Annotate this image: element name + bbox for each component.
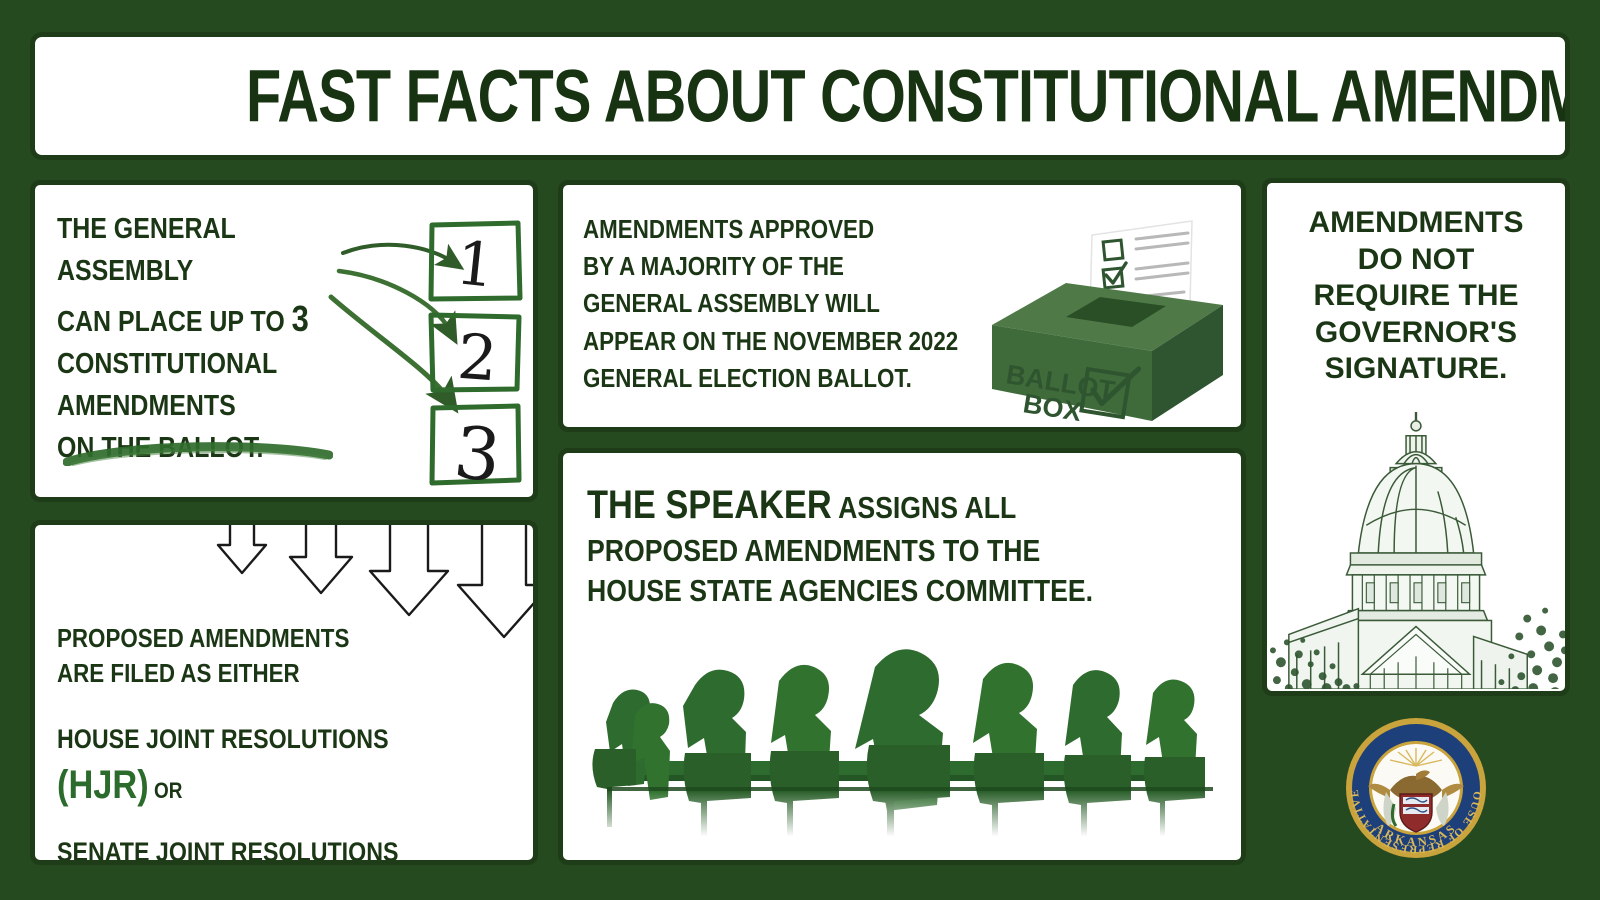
assembly-line-3: CONSTITUTIONAL [57, 344, 357, 386]
infographic-root: FAST FACTS ABOUT CONSTITUTIONAL AMENDMEN… [0, 0, 1600, 900]
governor-line-3: REQUIRE THE [1277, 278, 1555, 315]
filed-text-block: PROPOSED AMENDMENTS ARE FILED AS EITHER … [57, 621, 527, 865]
speaker-rest: ASSIGNS ALL [832, 490, 1017, 525]
panel-speaker-assigns: THE SPEAKER ASSIGNS ALL PROPOSED AMENDME… [558, 448, 1246, 865]
approved-text-block: AMENDMENTS APPROVED BY A MAJORITY OF THE… [583, 211, 1033, 397]
speaker-line-2: PROPOSED AMENDMENTS TO THE [587, 531, 1217, 571]
filed-line-3: HOUSE JOINT RESOLUTIONS (HJR) OR [57, 721, 527, 811]
filed-line-1: PROPOSED AMENDMENTS [57, 621, 527, 656]
box-number-1: 1 [453, 228, 498, 302]
header-panel: FAST FACTS ABOUT CONSTITUTIONAL AMENDMEN… [30, 32, 1570, 160]
speaker-text-block: THE SPEAKER ASSIGNS ALL PROPOSED AMENDME… [587, 479, 1217, 612]
filed-line-2: ARE FILED AS EITHER [57, 656, 527, 691]
speaker-line-1: THE SPEAKER ASSIGNS ALL [587, 479, 1217, 531]
numbered-box-1: 1 [427, 219, 523, 303]
page-title-text: FAST FACTS ABOUT CONSTITUTIONAL AMENDMEN… [246, 54, 1570, 139]
box-number-2: 2 [455, 320, 499, 396]
assembly-number-three: 3 [292, 298, 309, 339]
panel-approved-by-majority: AMENDMENTS APPROVED BY A MAJORITY OF THE… [558, 180, 1246, 432]
governor-line-2: DO NOT [1277, 242, 1555, 279]
filed-hjr-text: HOUSE JOINT RESOLUTIONS [57, 724, 389, 754]
box-number-3: 3 [450, 410, 504, 498]
filed-hjr-abbr: (HJR) [57, 763, 149, 807]
assembly-line-2-text: CAN PLACE UP TO [57, 306, 292, 338]
speaker-line-3: HOUSE STATE AGENCIES COMMITTEE. [587, 571, 1217, 611]
approved-line-4: APPEAR ON THE NOVEMBER 2022 [583, 323, 1033, 360]
governor-line-4: GOVERNOR'S [1277, 315, 1555, 352]
numbered-box-2: 2 [427, 311, 523, 395]
numbered-boxes-group: 1 2 3 [365, 219, 525, 489]
assembly-line-4: AMENDMENTS [57, 386, 357, 428]
numbered-box-3: 3 [427, 403, 523, 487]
assembly-text-block: THE GENERAL ASSEMBLY CAN PLACE UP TO 3 C… [57, 209, 357, 470]
speaker-emphasis: THE SPEAKER [587, 483, 832, 527]
governor-line-1: AMENDMENTS [1277, 205, 1555, 242]
filed-line-4: SENATE JOINT RESOLUTIONS (SJR). [57, 834, 527, 865]
filed-sjr-text: SENATE JOINT RESOLUTIONS [57, 837, 398, 865]
brush-underline-icon [63, 440, 333, 466]
page-title: FAST FACTS ABOUT CONSTITUTIONAL AMENDMEN… [35, 54, 1565, 139]
governor-text-block: AMENDMENTS DO NOT REQUIRE THE GOVERNOR'S… [1277, 205, 1555, 388]
panel-general-assembly: THE GENERAL ASSEMBLY CAN PLACE UP TO 3 C… [30, 180, 538, 502]
committee-meeting-silhouette-icon [583, 641, 1233, 856]
ballot-box-icon: BALLOT BOX [980, 193, 1235, 428]
panel-filed-as: PROPOSED AMENDMENTS ARE FILED AS EITHER … [30, 520, 538, 865]
arkansas-house-seal: HOUSE OF REPRESENTATIVES ARKANSAS [1336, 708, 1496, 868]
approved-line-5: GENERAL ELECTION BALLOT. [583, 360, 1033, 397]
panel-governor-signature: AMENDMENTS DO NOT REQUIRE THE GOVERNOR'S… [1262, 178, 1570, 696]
governor-line-5: SIGNATURE. [1277, 351, 1555, 388]
filed-or: OR [149, 778, 183, 803]
approved-line-2: BY A MAJORITY OF THE [583, 248, 1033, 285]
approved-line-3: GENERAL ASSEMBLY WILL [583, 285, 1033, 322]
capitol-dome-icon [1267, 406, 1565, 691]
approved-line-1: AMENDMENTS APPROVED [583, 211, 1033, 248]
assembly-line-2: CAN PLACE UP TO 3 [57, 293, 357, 345]
assembly-line-1: THE GENERAL ASSEMBLY [57, 209, 357, 293]
